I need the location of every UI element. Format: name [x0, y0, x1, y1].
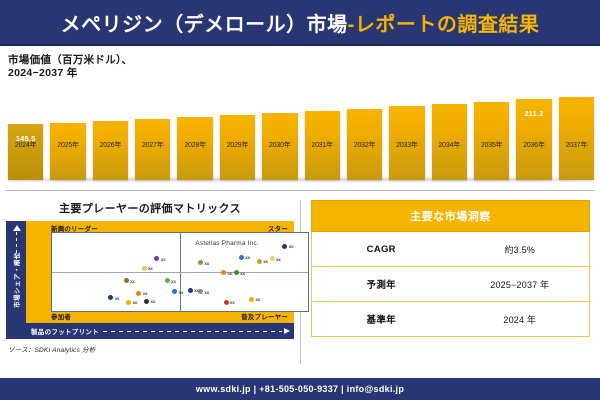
x-axis-tick-label: 2031年	[305, 140, 340, 152]
x-axis-tick-label: 2028年	[177, 140, 212, 152]
matrix-canvas: 新興のリーダー スター 参加者 普及プレーヤー Astellas Pharma …	[26, 221, 294, 323]
matrix-scatter-area: Astellas Pharma Inc. xxxxxxxxxxxxxxxxxxx…	[51, 232, 309, 312]
matrix-point-label: xx	[245, 255, 250, 260]
matrix-data-point	[142, 266, 147, 271]
x-axis-tick-label: 2036年	[516, 140, 551, 152]
matrix-point-label: xx	[148, 266, 153, 271]
footer-contact: www.sdki.jp | +81-505-050-9337 | info@sd…	[196, 384, 404, 394]
matrix-point-label: xx	[151, 299, 156, 304]
x-axis-tick-label: 2037年	[559, 140, 594, 152]
matrix-company-label: Astellas Pharma Inc.	[195, 240, 259, 247]
matrix-data-point	[234, 270, 239, 275]
header-bar: メペリジン（デメロール）市場-レポートの調査結果	[0, 0, 600, 46]
x-axis-tick-label: 2030年	[262, 140, 297, 152]
bar-column	[389, 92, 424, 180]
arrow-right-icon	[284, 328, 290, 334]
bar	[559, 97, 594, 180]
page-title-accent: -レポートの調査結果	[348, 14, 540, 36]
x-axis-tick-label: 2026年	[93, 140, 128, 152]
chart-x-axis: 2024年2025年2026年2027年2028年2029年2030年2031年…	[8, 140, 594, 152]
matrix-data-point	[108, 295, 113, 300]
insights-row-key: 予測年	[312, 277, 451, 291]
matrix-data-point	[136, 291, 141, 296]
x-axis-tick-label: 2034年	[432, 140, 467, 152]
matrix-data-point	[154, 256, 159, 261]
matrix-data-point	[198, 289, 203, 294]
footer-bar: www.sdki.jp | +81-505-050-9337 | info@sd…	[0, 378, 600, 400]
chart-caption: 市場価値（百万米ドル）、 2024−2037 年	[8, 54, 594, 80]
quadrant-label-bottom-right: 普及プレーヤー	[241, 311, 288, 321]
matrix-data-point	[124, 278, 129, 283]
matrix-x-axis: 製品のフットプリント	[26, 323, 294, 339]
matrix-point-label: xx	[204, 261, 209, 266]
matrix-point-label: xx	[240, 271, 245, 276]
matrix-x-axis-label: 製品のフットプリント	[31, 326, 99, 336]
insights-row-value: 2025−2037 年	[451, 278, 590, 291]
bar-column	[432, 92, 467, 180]
page-title-main: メペリジン（デメロール）市場	[61, 14, 348, 36]
matrix-point-label: xx	[171, 279, 176, 284]
quadrant-label-bottom-left: 参加者	[51, 311, 71, 321]
arrow-up-icon	[13, 225, 21, 231]
matrix-data-point	[249, 297, 254, 302]
matrix-data-point	[172, 289, 177, 294]
insights-row: 予測年2025−2037 年	[311, 267, 590, 302]
insights-card: 主要な市場洞察 CAGR約3.5%予測年2025−2037 年基準年2024 年	[311, 200, 590, 337]
insights-row-key: 基準年	[312, 312, 451, 326]
matrix-panel: 主要プレーヤーの評価マトリックス 市場シェア・順位 新興のリーダー スター 参加…	[0, 194, 300, 374]
bar-column	[135, 92, 170, 180]
x-axis-tick-label: 2027年	[135, 140, 170, 152]
matrix-title: 主要プレーヤーの評価マトリックス	[6, 200, 294, 216]
x-axis-tick-label: 2029年	[220, 140, 255, 152]
bar-column: 211.2	[516, 92, 551, 180]
matrix-point-label: xx	[204, 290, 209, 295]
matrix-data-point	[221, 270, 226, 275]
matrix-point-label: xx	[115, 296, 120, 301]
matrix-point-label: xx	[130, 279, 135, 284]
matrix-data-point	[270, 256, 275, 261]
matrix-point-label: xx	[161, 257, 166, 262]
source-note: ソース：SDKI Analytics 分析	[6, 344, 294, 354]
bar-value-label: 211.2	[516, 109, 551, 118]
matrix-data-point	[188, 288, 193, 293]
bar-column	[559, 92, 594, 180]
bar-column: 145.5	[8, 92, 43, 180]
quadrant-horizontal-divider	[52, 272, 308, 273]
matrix-data-point	[282, 244, 287, 249]
bar-column	[50, 92, 85, 180]
matrix-data-point	[224, 300, 229, 305]
insights-row: 基準年2024 年	[311, 302, 590, 337]
bar: 145.5	[8, 124, 43, 180]
insights-table: CAGR約3.5%予測年2025−2037 年基準年2024 年	[311, 232, 590, 337]
matrix-point-label: xx	[133, 300, 138, 305]
insights-row: CAGR約3.5%	[311, 232, 590, 267]
bar-column	[305, 92, 340, 180]
dashed-line-horizontal	[103, 331, 282, 332]
bar-column	[177, 92, 212, 180]
section-divider	[6, 190, 594, 191]
matrix-point-label: xx	[263, 259, 268, 264]
matrix-y-axis: 市場シェア・順位	[6, 221, 26, 339]
page-title: メペリジン（デメロール）市場-レポートの調査結果	[61, 8, 540, 37]
x-axis-tick-label: 2032年	[347, 140, 382, 152]
matrix-data-point	[126, 300, 131, 305]
insights-row-value: 2024 年	[451, 313, 590, 326]
insights-row-key: CAGR	[312, 244, 451, 255]
matrix-data-point	[257, 259, 262, 264]
bar-series: 145.5211.2	[8, 92, 594, 180]
bar-column	[220, 92, 255, 180]
market-value-chart: 市場価値（百万米ドル）、 2024−2037 年 145.5211.2	[0, 46, 600, 192]
insights-header: 主要な市場洞察	[311, 200, 590, 232]
x-axis-tick-label: 2033年	[389, 140, 424, 152]
matrix-point-label: xx	[143, 291, 148, 296]
matrix-data-point	[165, 278, 170, 283]
bar-column	[347, 92, 382, 180]
x-axis-tick-label: 2025年	[50, 140, 85, 152]
matrix-data-point	[239, 255, 244, 260]
lower-section: 主要プレーヤーの評価マトリックス 市場シェア・順位 新興のリーダー スター 参加…	[0, 194, 600, 374]
chart-caption-line2: 2024−2037 年	[8, 67, 594, 80]
matrix-point-label: xx	[179, 290, 184, 295]
bar-column	[474, 92, 509, 180]
insights-panel: 主要な市場洞察 CAGR約3.5%予測年2025−2037 年基準年2024 年	[301, 194, 600, 374]
bar-column	[262, 92, 297, 180]
matrix-y-axis-label: 市場シェア・順位	[11, 252, 21, 308]
insights-row-value: 約3.5%	[451, 243, 590, 256]
infographic-page: メペリジン（デメロール）市場-レポートの調査結果 市場価値（百万米ドル）、 20…	[0, 0, 600, 400]
matrix-data-point	[144, 299, 149, 304]
x-axis-tick-label: 2035年	[474, 140, 509, 152]
chart-caption-line1: 市場価値（百万米ドル）、	[8, 54, 594, 67]
matrix-point-label: xx	[256, 297, 261, 302]
matrix-point-label: xx	[230, 300, 235, 305]
x-axis-tick-label: 2024年	[8, 140, 43, 152]
matrix-point-label: xx	[289, 244, 294, 249]
matrix-point-label: xx	[276, 257, 281, 262]
bar-column	[93, 92, 128, 180]
evaluation-matrix: 市場シェア・順位 新興のリーダー スター 参加者 普及プレーヤー Astella…	[6, 221, 294, 339]
matrix-data-point	[198, 260, 203, 265]
matrix-point-label: xx	[227, 271, 232, 276]
